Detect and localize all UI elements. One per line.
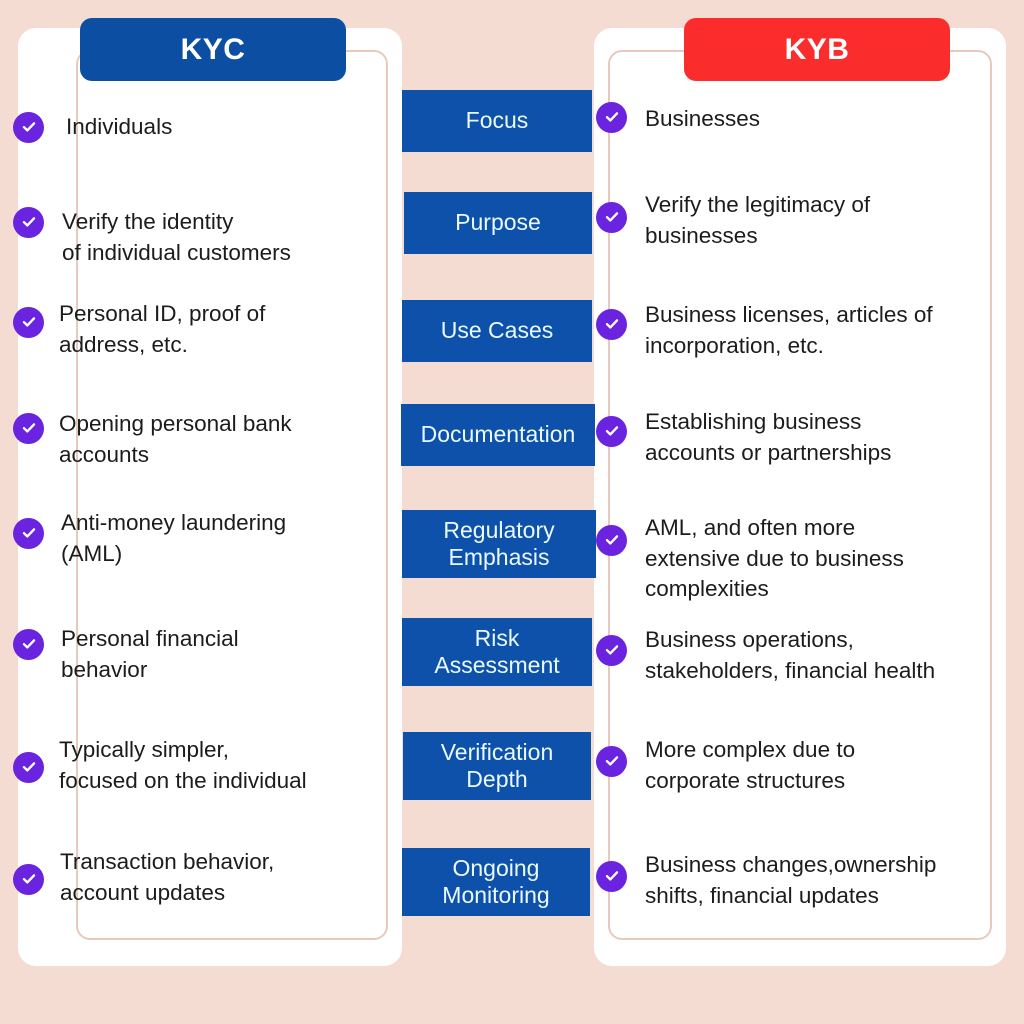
check-circle-icon xyxy=(13,518,44,549)
center-label-8: OngoingMonitoring xyxy=(402,848,590,916)
kyc-kyb-comparison-infographic: { "colors": { "background": "#f4dcd3", "… xyxy=(0,0,1024,1024)
right-list-item-8: Business changes,ownershipshifts, financ… xyxy=(645,850,1015,911)
right-list-item-3: Business licenses, articles ofincorporat… xyxy=(645,300,1015,361)
right-list-item-4: Establishing businessaccounts or partner… xyxy=(645,407,1015,468)
right-list-item-6: Business operations,stakeholders, financ… xyxy=(645,625,1015,686)
center-label-3: Use Cases xyxy=(402,300,592,362)
check-circle-icon xyxy=(596,202,627,233)
center-label-1: Focus xyxy=(402,90,592,152)
check-circle-icon xyxy=(596,861,627,892)
check-circle-icon xyxy=(13,307,44,338)
check-circle-icon xyxy=(13,752,44,783)
center-label-5: RegulatoryEmphasis xyxy=(402,510,596,578)
center-label-6: RiskAssessment xyxy=(402,618,592,686)
right-list-item-7: More complex due tocorporate structures xyxy=(645,735,1015,796)
check-circle-icon xyxy=(596,635,627,666)
check-circle-icon xyxy=(596,309,627,340)
left-list-item-4: Opening personal bankaccounts xyxy=(59,409,389,470)
left-list-item-5: Anti-money laundering(AML) xyxy=(61,508,391,569)
right-list-item-2: Verify the legitimacy ofbusinesses xyxy=(645,190,1015,251)
check-circle-icon xyxy=(13,629,44,660)
check-circle-icon xyxy=(596,102,627,133)
center-label-2: Purpose xyxy=(404,192,592,254)
check-circle-icon xyxy=(13,207,44,238)
kyb-card xyxy=(594,28,1006,966)
left-list-item-1: Individuals xyxy=(66,112,396,143)
center-label-4: Documentation xyxy=(401,404,595,466)
kyc-header-pill: KYC xyxy=(80,18,346,81)
kyb-card-inner-border xyxy=(608,50,992,940)
check-circle-icon xyxy=(596,746,627,777)
kyb-header-pill: KYB xyxy=(684,18,950,81)
right-list-item-5: AML, and often moreextensive due to busi… xyxy=(645,513,1015,605)
check-circle-icon xyxy=(13,864,44,895)
left-list-item-6: Personal financialbehavior xyxy=(61,624,391,685)
center-label-7: VerificationDepth xyxy=(403,732,591,800)
check-circle-icon xyxy=(596,416,627,447)
kyc-title: KYC xyxy=(181,33,246,67)
left-list-item-8: Transaction behavior,account updates xyxy=(60,847,390,908)
kyc-card xyxy=(18,28,402,966)
left-list-item-7: Typically simpler,focused on the individ… xyxy=(59,735,389,796)
kyc-card-inner-border xyxy=(76,50,388,940)
check-circle-icon xyxy=(596,525,627,556)
kyb-title: KYB xyxy=(785,33,850,67)
right-list-item-1: Businesses xyxy=(645,104,1015,135)
left-list-item-2: Verify the identityof individual custome… xyxy=(62,207,392,268)
left-list-item-3: Personal ID, proof ofaddress, etc. xyxy=(59,299,389,360)
check-circle-icon xyxy=(13,413,44,444)
check-circle-icon xyxy=(13,112,44,143)
